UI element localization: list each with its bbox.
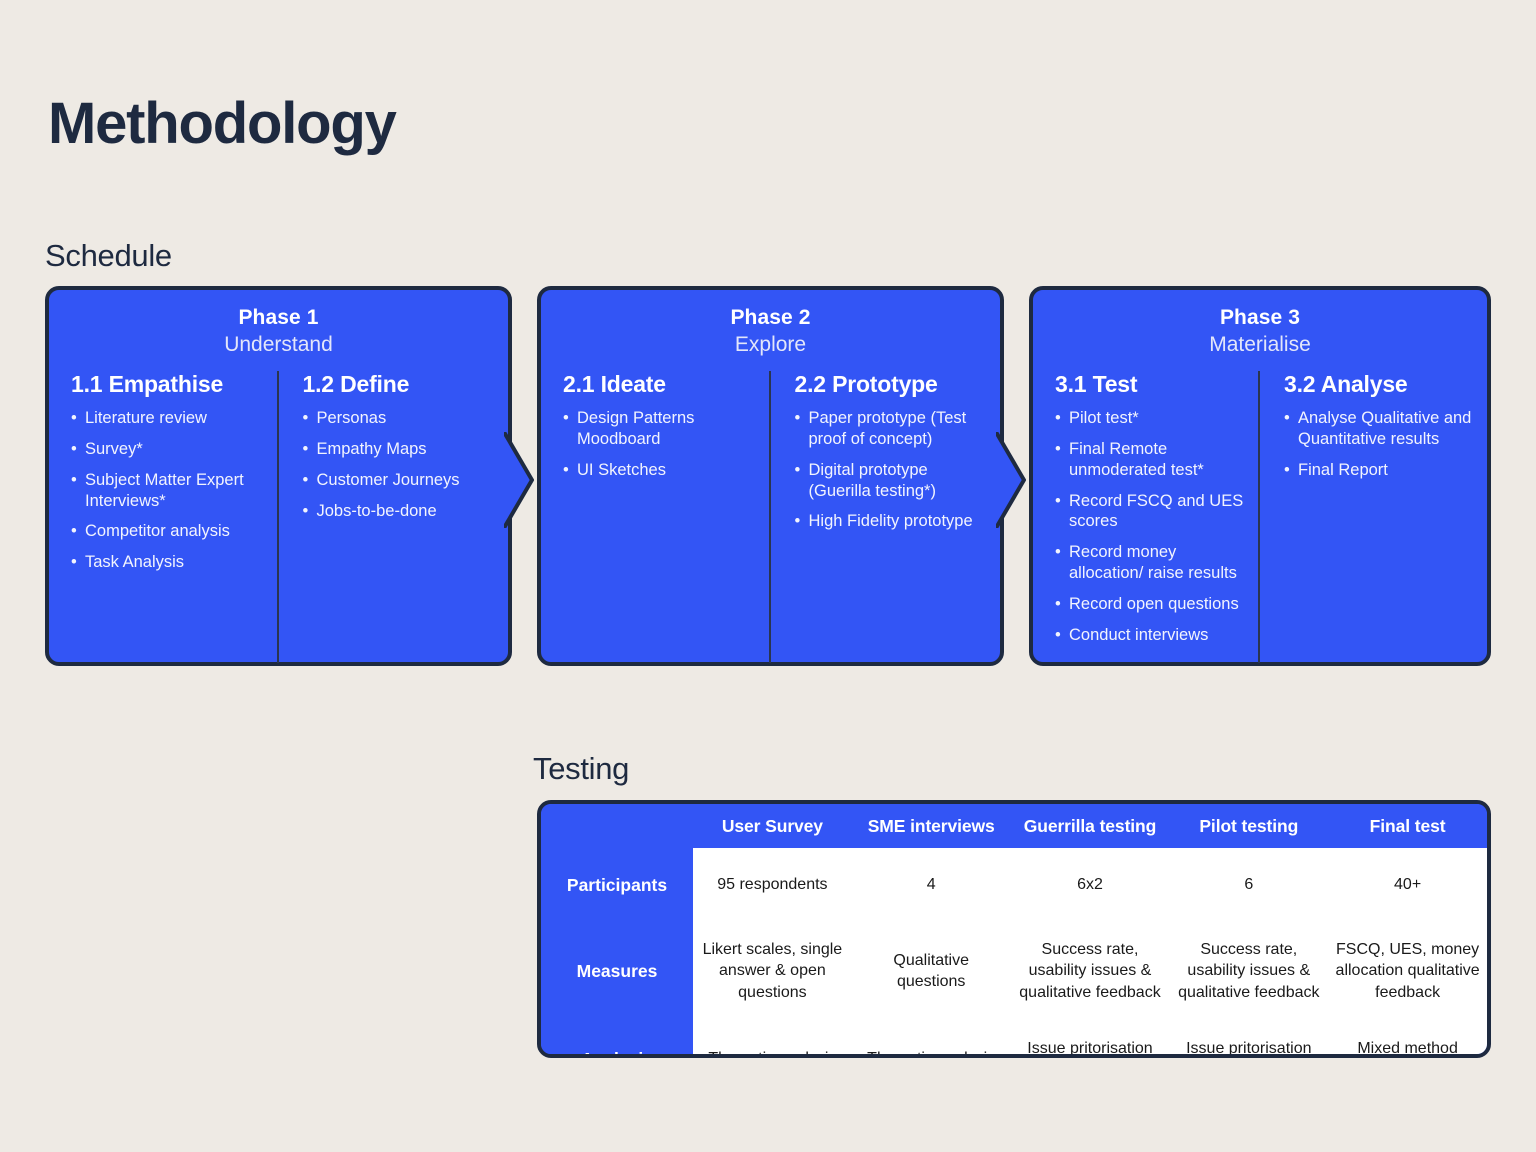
cell-analysis-sme-interviews: Thematic analysis [852,1020,1011,1058]
phase-card-3-header: Phase 3 Materialise [1033,290,1487,357]
phase-1-column-2: 1.2 Define Personas Empathy Maps Custome… [277,371,509,663]
phase-1-column-1: 1.1 Empathise Literature review Survey* … [49,371,277,663]
cell-participants-user-survey: 95 respondents [693,848,852,922]
cell-measures-pilot-testing: Success rate, usability issues & qualita… [1169,922,1328,1020]
cell-participants-final-test: 40+ [1328,848,1487,922]
cell-measures-guerrilla-testing: Success rate, usability issues & qualita… [1011,922,1170,1020]
row-header-analysis: Analysis [541,1020,693,1058]
cell-participants-sme-interviews: 4 [852,848,1011,922]
phase-1-name: Understand [49,333,508,357]
cell-analysis-user-survey: Thematic analysis [693,1020,852,1058]
cell-analysis-guerrilla-testing: Issue pritorisation analysis [1011,1020,1170,1058]
phase-card-3[interactable]: Phase 3 Materialise 3.1 Test Pilot test*… [1029,286,1491,666]
list-item: Paper prototype (Test proof of concept) [795,408,989,450]
cell-participants-pilot-testing: 6 [1169,848,1328,922]
phase-card-1-header: Phase 1 Understand [49,290,508,357]
cell-measures-final-test: FSCQ, UES, money allocation qualitative … [1328,922,1487,1020]
cell-measures-sme-interviews: Qualitative questions [852,922,1011,1020]
row-header-participants: Participants [541,848,693,922]
phase-2-column-1: 2.1 Ideate Design Patterns Moodboard UI … [541,371,769,663]
list-item: Analyse Qualitative and Quantitative res… [1284,408,1475,450]
list-item: Competitor analysis [71,521,265,542]
phase-card-1[interactable]: Phase 1 Understand 1.1 Empathise Literat… [45,286,512,666]
schedule-phase-row: Phase 1 Understand 1.1 Empathise Literat… [45,286,1491,666]
list-item: Record money allocation/ raise results [1055,542,1246,584]
list-item: UI Sketches [563,460,757,481]
phase-3-column-2: 3.2 Analyse Analyse Qualitative and Quan… [1258,371,1487,663]
phase-2-column-2-list: Paper prototype (Test proof of concept) … [795,408,989,532]
phase-2-column-1-title: 2.1 Ideate [563,371,757,398]
list-item: Task Analysis [71,552,265,573]
list-item: Customer Journeys [303,470,497,491]
list-item: Conduct interviews [1055,625,1246,646]
chevron-right-icon-1 [504,432,534,528]
phase-2-column-1-list: Design Patterns Moodboard UI Sketches [563,408,757,480]
testing-section-heading: Testing [533,753,629,784]
chevron-right-icon-2 [996,432,1026,528]
list-item: Final Remote unmoderated test* [1055,439,1246,481]
phase-1-column-2-list: Personas Empathy Maps Customer Journeys … [303,408,497,521]
list-item: High Fidelity prototype [795,511,989,532]
phase-3-column-1-title: 3.1 Test [1055,371,1246,398]
list-item: Subject Matter Expert Interviews* [71,470,265,512]
cell-participants-guerrilla-testing: 6x2 [1011,848,1170,922]
list-item: Survey* [71,439,265,460]
list-item: Final Report [1284,460,1475,481]
table-header-row: User Survey SME interviews Guerrilla tes… [541,804,1487,848]
phase-1-column-1-list: Literature review Survey* Subject Matter… [71,408,265,573]
phase-3-label: Phase 3 [1033,306,1487,330]
phase-2-name: Explore [541,333,1000,357]
phase-3-column-2-title: 3.2 Analyse [1284,371,1475,398]
phase-1-label: Phase 1 [49,306,508,330]
list-item: Pilot test* [1055,408,1246,429]
phase-card-2-header: Phase 2 Explore [541,290,1000,357]
list-item: Literature review [71,408,265,429]
list-item: Personas [303,408,497,429]
phase-3-column-1-list: Pilot test* Final Remote unmoderated tes… [1055,408,1246,645]
column-header-guerrilla-testing: Guerrilla testing [1011,804,1170,848]
phase-2-column-2-title: 2.2 Prototype [795,371,989,398]
list-item: Record open questions [1055,594,1246,615]
cell-analysis-final-test: Mixed method analysis [1328,1020,1487,1058]
list-item: Record FSCQ and UES scores [1055,491,1246,533]
phase-3-column-1: 3.1 Test Pilot test* Final Remote unmode… [1033,371,1258,663]
page-title: Methodology [48,95,396,153]
phase-1-column-2-title: 1.2 Define [303,371,497,398]
list-item: Jobs-to-be-done [303,501,497,522]
table-row: Analysis Thematic analysis Thematic anal… [541,1020,1487,1058]
column-header-pilot-testing: Pilot testing [1169,804,1328,848]
testing-table: User Survey SME interviews Guerrilla tes… [537,800,1491,1058]
list-item: Digital prototype (Guerilla testing*) [795,460,989,502]
phase-3-name: Materialise [1033,333,1487,357]
phase-3-column-2-list: Analyse Qualitative and Quantitative res… [1284,408,1475,480]
phase-2-column-2: 2.2 Prototype Paper prototype (Test proo… [769,371,1001,663]
table-corner-cell [541,804,693,848]
column-header-user-survey: User Survey [693,804,852,848]
cell-analysis-pilot-testing: Issue pritorisation analysis [1169,1020,1328,1058]
column-header-final-test: Final test [1328,804,1487,848]
column-header-sme-interviews: SME interviews [852,804,1011,848]
phase-2-label: Phase 2 [541,306,1000,330]
phase-1-column-1-title: 1.1 Empathise [71,371,265,398]
list-item: Design Patterns Moodboard [563,408,757,450]
table-row: Participants 95 respondents 4 6x2 6 40+ [541,848,1487,922]
schedule-section-heading: Schedule [45,240,172,271]
phase-card-2[interactable]: Phase 2 Explore 2.1 Ideate Design Patter… [537,286,1004,666]
table-row: Measures Likert scales, single answer & … [541,922,1487,1020]
cell-measures-user-survey: Likert scales, single answer & open ques… [693,922,852,1020]
row-header-measures: Measures [541,922,693,1020]
list-item: Empathy Maps [303,439,497,460]
